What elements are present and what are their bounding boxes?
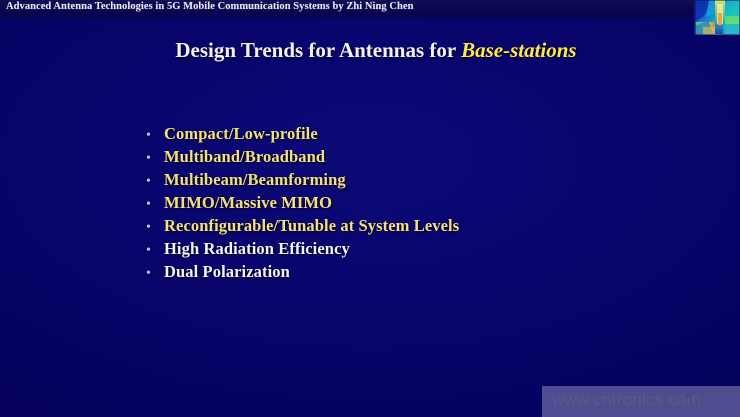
list-item-label: Dual Polarization bbox=[164, 260, 290, 283]
bullet-list: •Compact/Low-profile•Multiband/Broadband… bbox=[146, 122, 666, 283]
bullet-dot-icon: • bbox=[146, 124, 164, 147]
list-item-label: Multiband/Broadband bbox=[164, 145, 325, 168]
list-item: •MIMO/Massive MIMO bbox=[146, 191, 666, 214]
list-item: •Compact/Low-profile bbox=[146, 122, 666, 145]
bullet-dot-icon: • bbox=[146, 262, 164, 285]
list-item: •Dual Polarization bbox=[146, 260, 666, 283]
slide-title: Design Trends for Antennas for Base-stat… bbox=[0, 38, 740, 63]
list-item: •High Radiation Efficiency bbox=[146, 237, 666, 260]
list-item: •Reconfigurable/Tunable at System Levels bbox=[146, 214, 666, 237]
slide-title-prefix: Design Trends for Antennas for bbox=[175, 38, 461, 62]
slide-title-highlight: Base-stations bbox=[461, 38, 577, 62]
slide-header-band: Advanced Antenna Technologies in 5G Mobi… bbox=[0, 0, 740, 18]
list-item: •Multiband/Broadband bbox=[146, 145, 666, 168]
list-item-label: Multibeam/Beamforming bbox=[164, 168, 346, 191]
list-item: •Multibeam/Beamforming bbox=[146, 168, 666, 191]
watermark-copyright-mark: © bbox=[687, 393, 692, 400]
list-item-label: Reconfigurable/Tunable at System Levels bbox=[164, 214, 459, 237]
em-field-simulation-icon bbox=[695, 0, 740, 35]
bullet-dot-icon: • bbox=[146, 193, 164, 216]
list-item-label: High Radiation Efficiency bbox=[164, 237, 350, 260]
presentation-header-title: Advanced Antenna Technologies in 5G Mobi… bbox=[6, 1, 414, 12]
watermark-overlay: www.cntronics.com © bbox=[542, 386, 740, 417]
list-item-label: MIMO/Massive MIMO bbox=[164, 191, 332, 214]
bullet-dot-icon: • bbox=[146, 170, 164, 193]
presentation-slide: Advanced Antenna Technologies in 5G Mobi… bbox=[0, 0, 740, 417]
list-item-label: Compact/Low-profile bbox=[164, 122, 318, 145]
bullet-dot-icon: • bbox=[146, 216, 164, 239]
bullet-dot-icon: • bbox=[146, 147, 164, 170]
watermark-text: www.cntronics.com bbox=[552, 390, 701, 410]
em-field-simulation-thumbnail bbox=[694, 0, 740, 35]
bullet-dot-icon: • bbox=[146, 239, 164, 262]
